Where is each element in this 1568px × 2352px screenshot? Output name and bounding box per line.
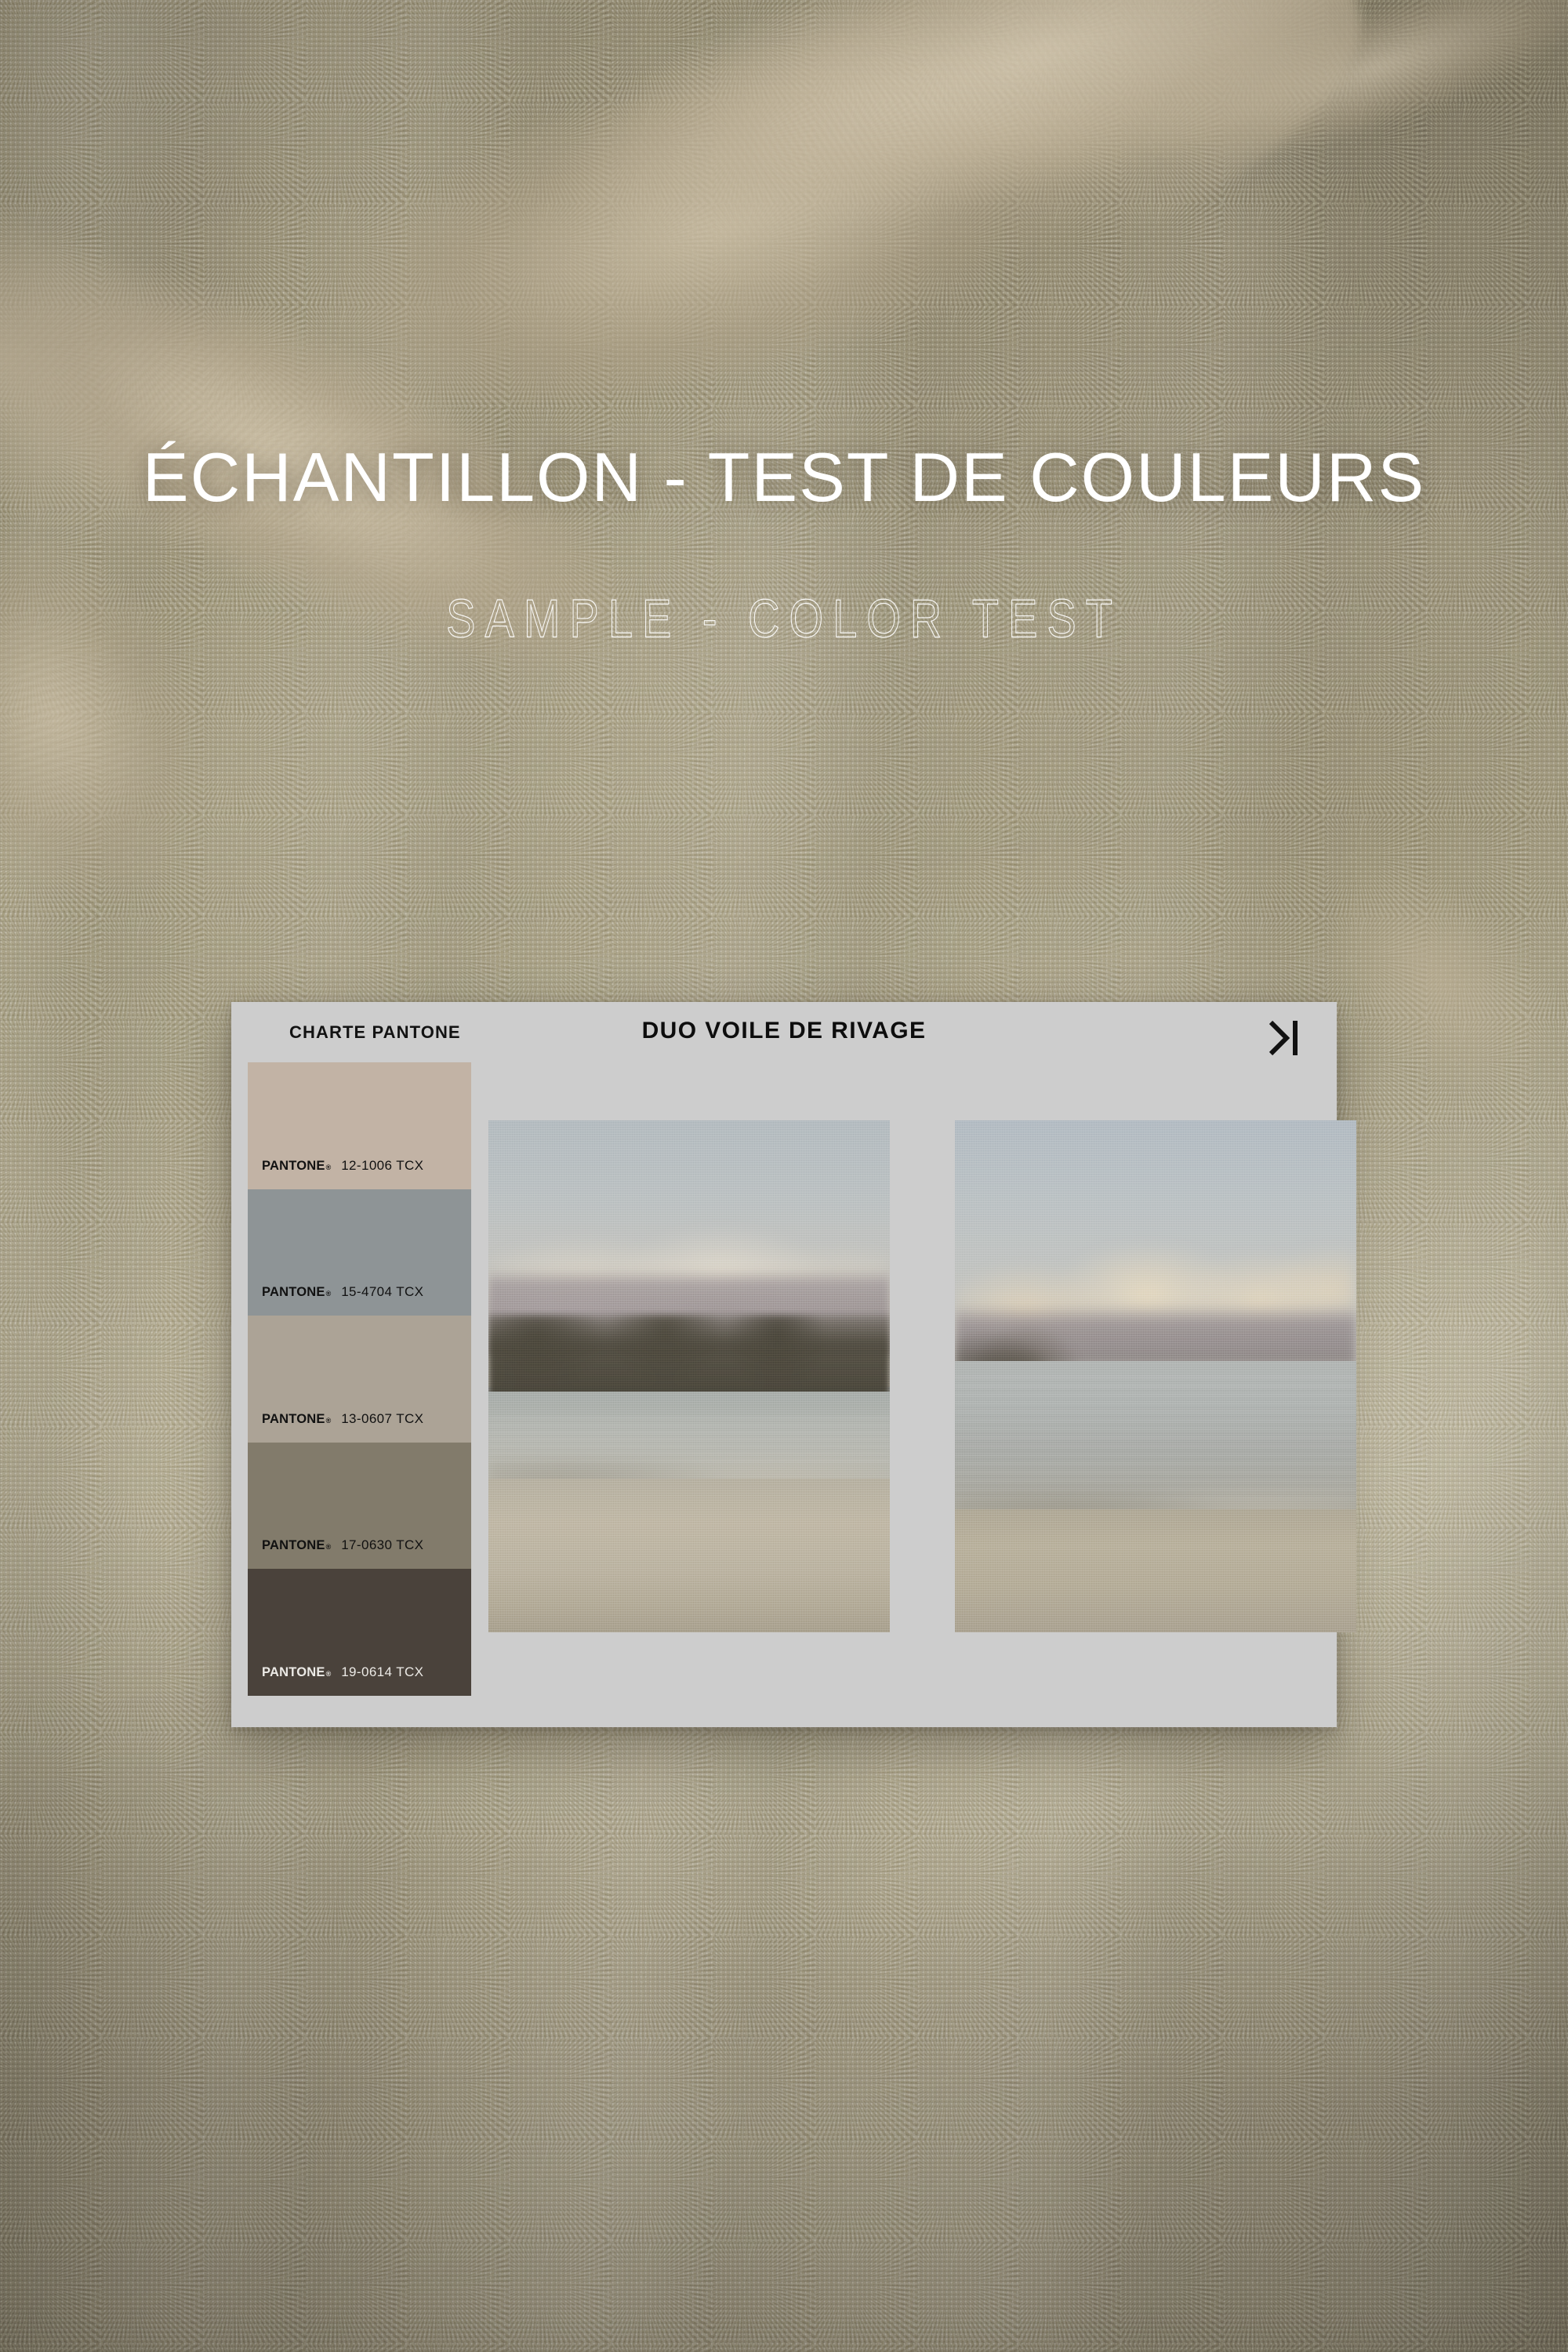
art-canvas-texture: [488, 1120, 890, 1632]
pantone-brand: PANTONE: [262, 1538, 325, 1553]
pantone-code: 15-4704 TCX: [341, 1284, 423, 1300]
pantone-code: 13-0607 TCX: [341, 1411, 423, 1427]
swatch-caption: PANTONE® 17-0630 TCX: [248, 1537, 423, 1569]
registered-mark: ®: [326, 1163, 332, 1171]
art-canvas-texture: [955, 1120, 1356, 1632]
swatch-caption: PANTONE® 12-1006 TCX: [248, 1158, 423, 1189]
page-subtitle: SAMPLE - COLOR TEST: [0, 592, 1568, 645]
page-title: ÉCHANTILLON - TEST DE COULEURS: [0, 443, 1568, 512]
registered-mark: ®: [326, 1417, 332, 1425]
card-title: DUO VOILE DE RIVAGE: [231, 1018, 1337, 1044]
registered-mark: ®: [326, 1670, 332, 1678]
skip-forward-icon[interactable]: [1263, 1016, 1307, 1060]
pantone-swatch[interactable]: PANTONE® 17-0630 TCX: [248, 1443, 471, 1570]
poster-canvas: ÉCHANTILLON - TEST DE COULEURS SAMPLE - …: [0, 0, 1568, 2352]
pantone-swatch[interactable]: PANTONE® 15-4704 TCX: [248, 1189, 471, 1316]
swatch-caption: PANTONE® 13-0607 TCX: [248, 1411, 423, 1443]
pantone-brand: PANTONE: [262, 1285, 325, 1300]
artwork-left[interactable]: [488, 1120, 890, 1632]
swatch-caption: PANTONE® 19-0614 TCX: [248, 1664, 423, 1696]
registered-mark: ®: [326, 1290, 332, 1298]
card-header: CHARTE PANTONE DUO VOILE DE RIVAGE: [231, 1002, 1337, 1063]
pantone-brand: PANTONE: [262, 1159, 325, 1174]
pantone-brand: PANTONE: [262, 1412, 325, 1427]
pantone-code: 12-1006 TCX: [341, 1158, 423, 1174]
swatch-caption: PANTONE® 15-4704 TCX: [248, 1284, 423, 1316]
registered-mark: ®: [326, 1543, 332, 1551]
pantone-swatch[interactable]: PANTONE® 12-1006 TCX: [248, 1062, 471, 1189]
pantone-code: 17-0630 TCX: [341, 1537, 423, 1553]
pantone-swatch[interactable]: PANTONE® 19-0614 TCX: [248, 1569, 471, 1696]
artwork-right[interactable]: [955, 1120, 1356, 1632]
pantone-code: 19-0614 TCX: [341, 1664, 423, 1680]
pantone-brand: PANTONE: [262, 1665, 325, 1680]
pantone-chart-card: CHARTE PANTONE DUO VOILE DE RIVAGE PANTO…: [231, 1002, 1337, 1727]
pantone-swatch[interactable]: PANTONE® 13-0607 TCX: [248, 1316, 471, 1443]
pantone-swatch-list: PANTONE® 12-1006 TCX PANTONE® 15-4704 TC…: [248, 1062, 471, 1696]
